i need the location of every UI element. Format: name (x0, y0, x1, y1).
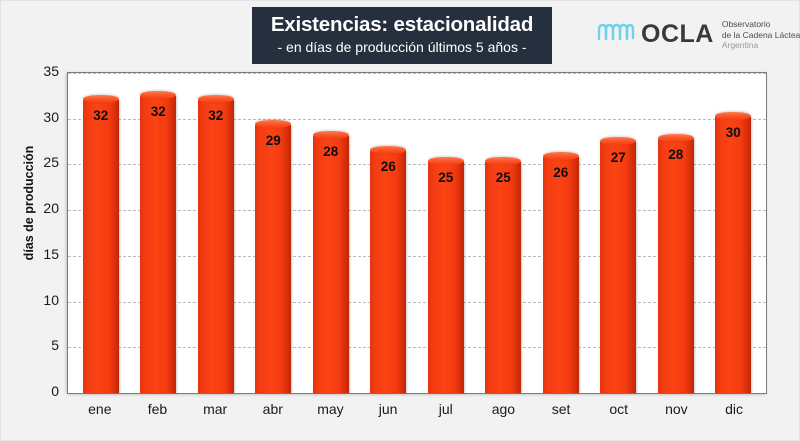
bar-slot: 28 (313, 73, 349, 393)
bar[interactable]: 27 (600, 142, 636, 393)
page-subtitle: - en días de producción últimos 5 años - (260, 37, 544, 57)
bar-slot: 27 (600, 73, 636, 393)
bar-slot: 32 (83, 73, 119, 393)
bar-top-cap (485, 157, 521, 165)
x-axis-tick-label: ago (485, 401, 521, 417)
bar-value-label: 30 (715, 125, 751, 140)
bar-value-label: 25 (428, 170, 464, 185)
bar[interactable]: 28 (658, 139, 694, 393)
sound-wave-icon (597, 19, 635, 50)
x-axis-tick-label: jul (428, 401, 464, 417)
bar-value-label: 28 (313, 144, 349, 159)
bar[interactable]: 25 (428, 162, 464, 393)
bar-slot: 32 (198, 73, 234, 393)
x-axis-tick-label: mar (197, 401, 233, 417)
bar[interactable]: 26 (370, 151, 406, 393)
bar-slot: 25 (485, 73, 521, 393)
x-axis-tick-label: oct (601, 401, 637, 417)
bar[interactable]: 30 (715, 117, 751, 393)
bar-top-cap (83, 95, 119, 103)
bar-value-label: 29 (255, 133, 291, 148)
bar[interactable]: 32 (198, 100, 234, 393)
y-axis-tick-label: 30 (19, 109, 59, 125)
bar-value-label: 26 (370, 159, 406, 174)
y-axis-tick-label: 20 (19, 200, 59, 216)
x-axis-tick-label: abr (255, 401, 291, 417)
bar-slot: 26 (543, 73, 579, 393)
bar-value-label: 32 (83, 108, 119, 123)
plot-area: 323232292826252526272830 (67, 72, 767, 394)
y-axis-tick-labels: 35302520151050 (15, 72, 59, 394)
bar-top-cap (543, 152, 579, 160)
bar-value-label: 32 (140, 104, 176, 119)
x-axis-tick-label: jun (370, 401, 406, 417)
logo-wordmark: OCLA (641, 22, 714, 47)
bar[interactable]: 28 (313, 136, 349, 393)
title-block: Existencias: estacionalidad - en días de… (252, 7, 552, 64)
ocla-logo: OCLA Observatorio de la Cadena Láctea Ar… (597, 18, 800, 51)
bar-top-cap (715, 112, 751, 120)
y-axis-tick-label: 15 (19, 246, 59, 262)
y-axis-tick-label: 25 (19, 154, 59, 170)
logo-tagline-line-2: de la Cadena Láctea (722, 30, 800, 41)
logo-tagline-line-3: Argentina (722, 40, 800, 51)
bar-slot: 28 (658, 73, 694, 393)
bars-container: 323232292826252526272830 (68, 73, 766, 393)
bar-top-cap (658, 134, 694, 142)
bar-value-label: 27 (600, 150, 636, 165)
y-axis-tick-label: 0 (19, 383, 59, 399)
y-axis-tick-label: 5 (19, 337, 59, 353)
bar[interactable]: 32 (83, 100, 119, 393)
bar-top-cap (140, 91, 176, 99)
x-axis-tick-labels: enefebmarabrmayjunjulagosetoctnovdic (67, 401, 767, 417)
bar-slot: 25 (428, 73, 464, 393)
bar-slot: 26 (370, 73, 406, 393)
bar-value-label: 25 (485, 170, 521, 185)
logo-tagline-line-1: Observatorio (722, 19, 800, 30)
bar[interactable]: 32 (140, 96, 176, 393)
y-axis-tick-label: 10 (19, 292, 59, 308)
x-axis-tick-label: dic (716, 401, 752, 417)
x-axis-tick-label: nov (658, 401, 694, 417)
bar-value-label: 32 (198, 108, 234, 123)
bar-slot: 30 (715, 73, 751, 393)
x-axis-tick-label: may (312, 401, 348, 417)
bar[interactable]: 29 (255, 125, 291, 393)
logo-tagline: Observatorio de la Cadena Láctea Argenti… (722, 18, 800, 51)
bar-value-label: 26 (543, 165, 579, 180)
bar-top-cap (428, 157, 464, 165)
bar-top-cap (370, 146, 406, 154)
bar[interactable]: 26 (543, 157, 579, 393)
bar-slot: 32 (140, 73, 176, 393)
bar-top-cap (255, 120, 291, 128)
bar-top-cap (600, 137, 636, 145)
x-axis-tick-label: feb (139, 401, 175, 417)
page-title: Existencias: estacionalidad (260, 12, 544, 37)
bar-slot: 29 (255, 73, 291, 393)
x-axis-tick-label: set (543, 401, 579, 417)
y-axis-tick-label: 35 (19, 63, 59, 79)
x-axis-tick-label: ene (82, 401, 118, 417)
chart-page: Existencias: estacionalidad - en días de… (0, 0, 800, 441)
bar[interactable]: 25 (485, 162, 521, 393)
bar-top-cap (313, 131, 349, 139)
bar-value-label: 28 (658, 147, 694, 162)
bar-top-cap (198, 95, 234, 103)
